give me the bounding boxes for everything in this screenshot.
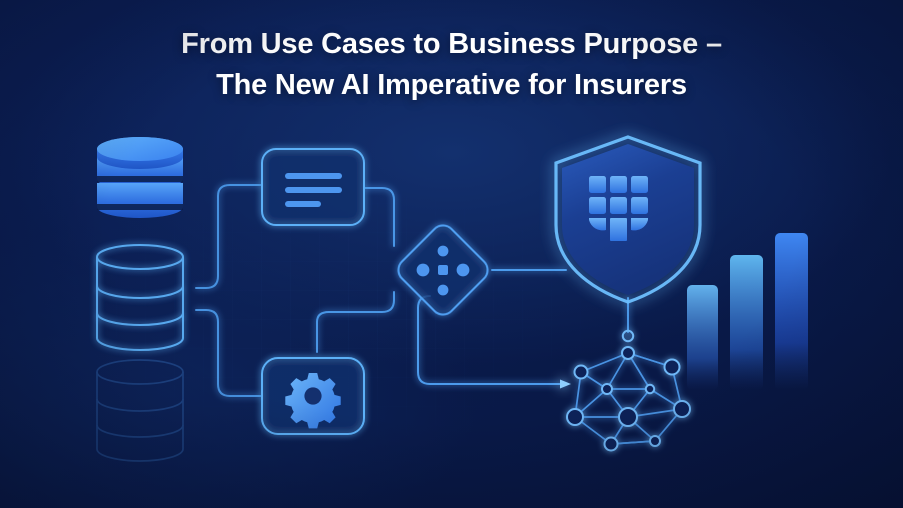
connector-gear-to-decision xyxy=(317,292,394,352)
connector-document-to-decision xyxy=(364,188,394,246)
network-node-dot xyxy=(650,436,660,446)
network-node-dot xyxy=(619,408,637,426)
bar-1 xyxy=(687,285,718,390)
arrow-head-to-network xyxy=(560,380,571,389)
database-icon-solid xyxy=(97,137,183,218)
document-line-3 xyxy=(285,201,321,207)
illustration-canvas: From Use Cases to Business Purpose – The… xyxy=(0,0,903,508)
diamond-dot-left xyxy=(417,264,430,277)
bar-2 xyxy=(730,255,763,390)
page-title: From Use Cases to Business Purpose – The… xyxy=(0,24,903,106)
gear-icon-node xyxy=(262,358,364,434)
network-node-dot xyxy=(605,438,618,451)
diamond-dot-right xyxy=(457,264,470,277)
gear-icon xyxy=(285,373,340,428)
diamond-dot-center xyxy=(438,265,448,275)
bar-chart-icon xyxy=(687,233,808,390)
diamond-dot-top xyxy=(438,246,449,257)
document-lines-icon-node xyxy=(262,149,364,225)
diamond-dots-icon-node xyxy=(394,221,493,320)
network-node-dot xyxy=(567,409,583,425)
network-node-dot xyxy=(674,401,690,417)
connector-database-to-gear xyxy=(196,310,262,396)
database-icon-faded xyxy=(97,360,183,461)
network-node-dot xyxy=(646,385,654,393)
connector-database-to-document xyxy=(196,185,262,288)
diamond-dot-bottom xyxy=(438,285,449,296)
shield-grid-icon-node xyxy=(556,137,700,302)
network-graph-icon xyxy=(567,347,690,451)
network-node-dot xyxy=(575,366,588,379)
document-line-1 xyxy=(285,173,342,179)
bar-3 xyxy=(775,233,808,390)
shield-body xyxy=(562,144,694,295)
database-icon-outline xyxy=(97,245,183,350)
network-node-dot xyxy=(622,347,634,359)
network-node-dot xyxy=(665,360,680,375)
document-line-2 xyxy=(285,187,342,193)
network-node-dot xyxy=(602,384,612,394)
